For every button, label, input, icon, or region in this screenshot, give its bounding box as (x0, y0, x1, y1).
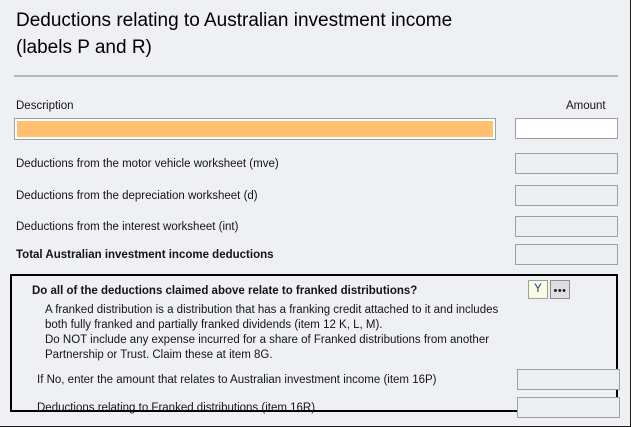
column-header-description: Description (16, 100, 74, 112)
franked-help-text: A franked distribution is a distribution… (45, 303, 498, 363)
row-label-depreciation: Deductions from the depreciation workshe… (16, 190, 258, 202)
franked-distributions-panel: Do all of the deductions claimed above r… (10, 274, 618, 412)
franked-answer-group: Y ••• (528, 280, 570, 299)
row-label-total: Total Australian investment income deduc… (16, 249, 274, 261)
row-label-interest: Deductions from the interest worksheet (… (16, 221, 238, 233)
column-header-amount: Amount (566, 100, 606, 112)
row-label-item-16p: If No, enter the amount that relates to … (37, 374, 437, 386)
franked-question-label: Do all of the deductions claimed above r… (32, 285, 417, 297)
row-label-item-16r: Deductions relating to Franked distribut… (37, 402, 315, 414)
title-divider (14, 75, 618, 77)
row-label-motor-vehicle: Deductions from the motor vehicle worksh… (16, 158, 279, 170)
amount-field-item-16p (517, 369, 620, 390)
amount-field-item-16r (517, 397, 620, 418)
page-title: Deductions relating to Australian invest… (16, 7, 616, 61)
amount-field-motor-vehicle (515, 153, 618, 174)
description-input-highlight (17, 121, 493, 137)
franked-answer-code-input[interactable]: Y (528, 280, 548, 299)
amount-field-depreciation (515, 185, 618, 206)
amount-field-total (515, 244, 618, 265)
description-input[interactable] (14, 118, 496, 140)
deductions-window: Deductions relating to Australian invest… (0, 0, 631, 427)
amount-input-row-1[interactable] (515, 118, 618, 139)
amount-field-interest (515, 216, 618, 237)
lookup-ellipsis-button[interactable]: ••• (550, 280, 570, 299)
